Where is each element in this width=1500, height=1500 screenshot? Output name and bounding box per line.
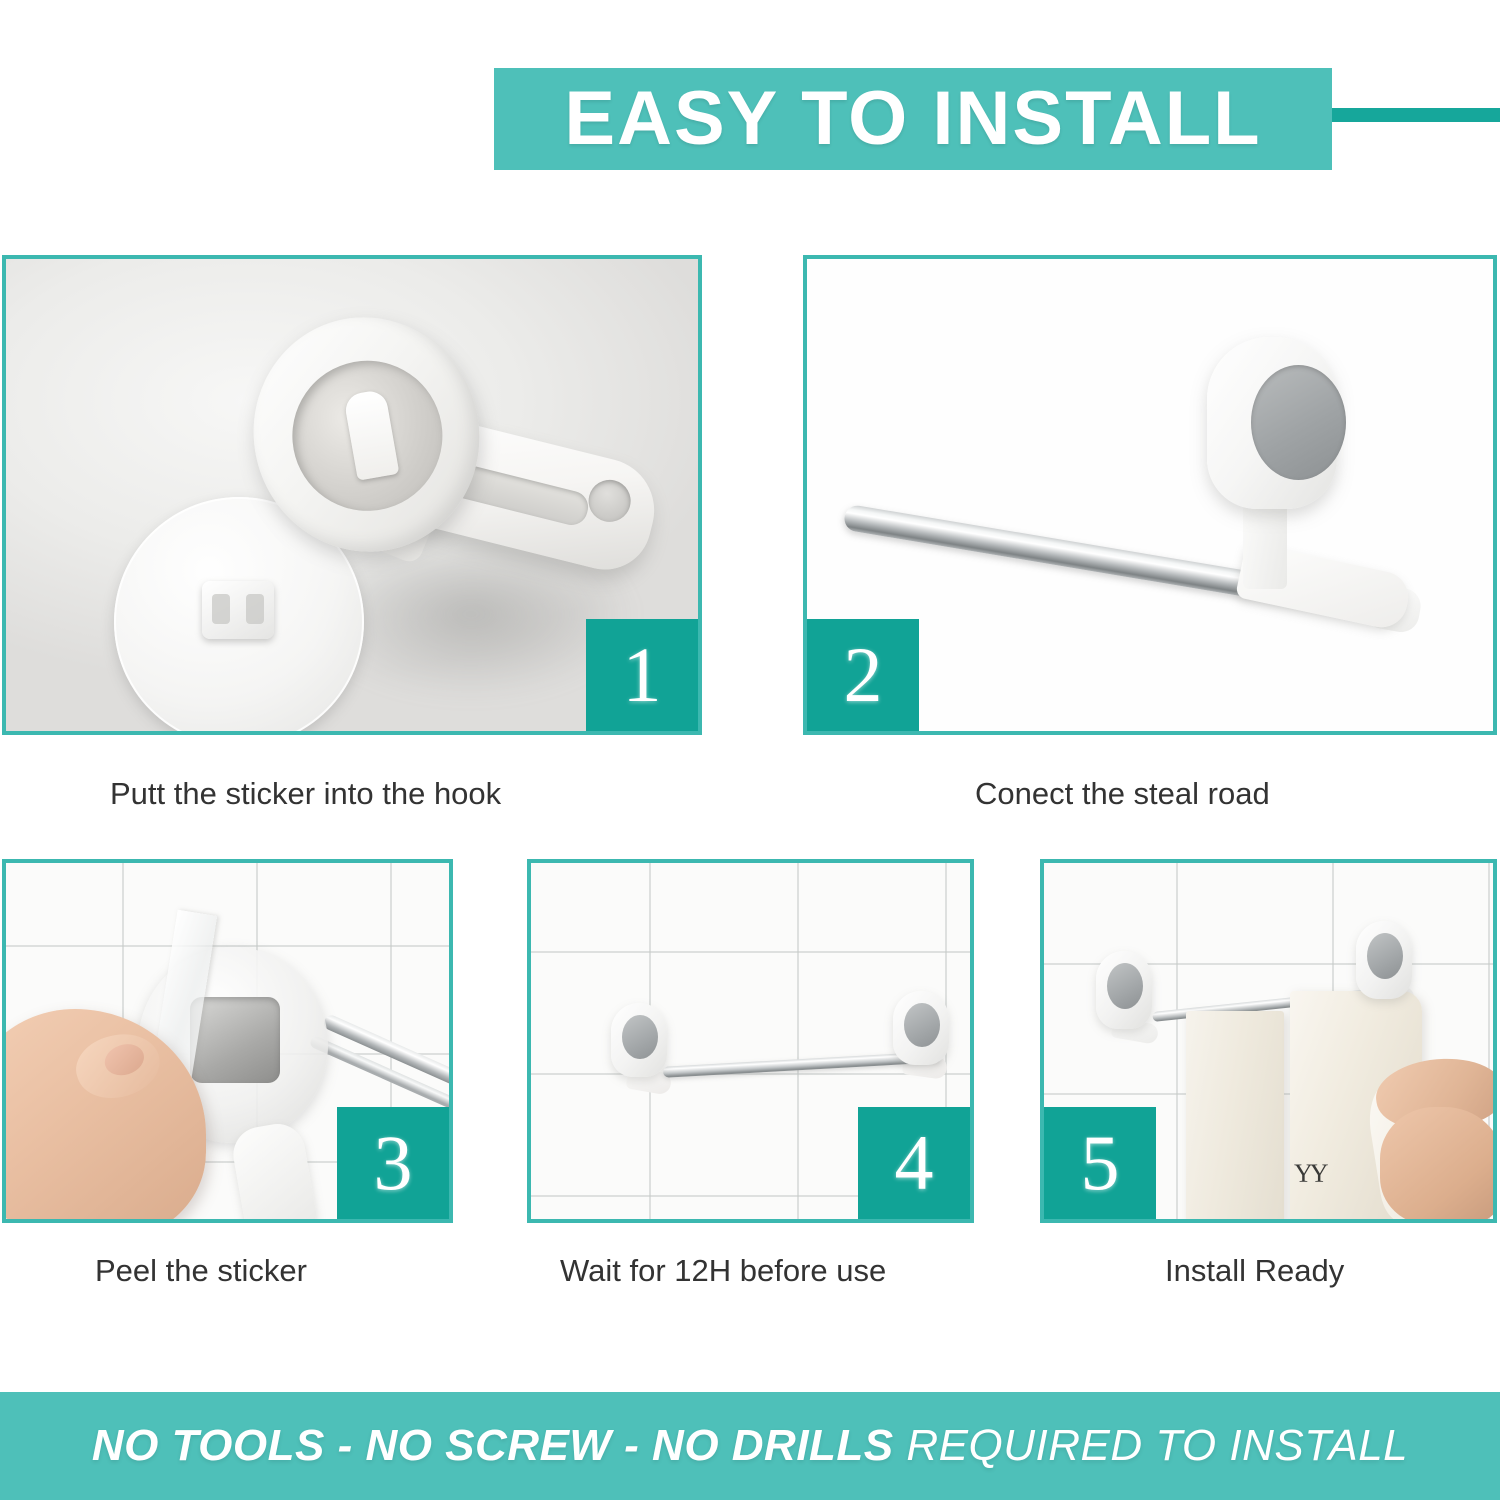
hook-head-recess — [275, 343, 461, 529]
step-caption-4: Wait for 12H before use — [560, 1252, 886, 1289]
page-title: EASY TO INSTALL — [564, 81, 1261, 157]
step-number-5: 5 — [1081, 1124, 1120, 1202]
suction-mount-left — [1096, 951, 1152, 1029]
step-number-2: 2 — [844, 636, 883, 714]
step-caption-2: Conect the steal road — [975, 775, 1270, 812]
suction-mount-right — [893, 991, 949, 1065]
step-number-3: 3 — [374, 1124, 413, 1202]
step-badge-3: 3 — [337, 1107, 449, 1219]
hook-arm-hole — [584, 475, 635, 526]
suction-cup-holder — [1207, 337, 1337, 509]
suction-disc-right — [1367, 933, 1403, 979]
header: EASY TO INSTALL — [0, 0, 1500, 240]
step-caption-1: Putt the sticker into the hook — [110, 775, 501, 812]
holder-stem — [1243, 497, 1287, 589]
step-caption-3: Peel the sticker — [95, 1252, 307, 1289]
thumb — [68, 1024, 167, 1109]
towel-embroidery-mark: ΥΥ — [1294, 1159, 1326, 1189]
step-badge-4: 4 — [858, 1107, 970, 1219]
hook-head-slot — [343, 389, 399, 481]
suction-disc-core — [190, 997, 280, 1083]
step-panel-2: 2 — [803, 255, 1497, 735]
step-caption-5: Install Ready — [1165, 1252, 1344, 1289]
header-title-block: EASY TO INSTALL — [494, 68, 1332, 170]
footer-text: NO TOOLS - NO SCREW - NO DRILLS REQUIRED… — [92, 1424, 1408, 1468]
thumbnail — [101, 1039, 148, 1080]
step-panel-3: 3 — [2, 859, 453, 1223]
footer-light-text: REQUIRED TO INSTALL — [894, 1421, 1408, 1470]
step-badge-2: 2 — [807, 619, 919, 731]
suction-gray-disc — [1251, 365, 1346, 480]
suction-disc-left — [1107, 963, 1143, 1009]
footer-strong-text: NO TOOLS - NO SCREW - NO DRILLS — [92, 1421, 894, 1470]
suction-mount-right — [1356, 921, 1412, 999]
step-number-1: 1 — [623, 636, 662, 714]
footer-banner: NO TOOLS - NO SCREW - NO DRILLS REQUIRED… — [0, 1392, 1500, 1500]
towel-left — [1186, 1011, 1284, 1219]
step-badge-5: 5 — [1044, 1107, 1156, 1219]
step-panel-5: ΥΥ 5 — [1040, 859, 1497, 1223]
step-panel-4: 4 — [527, 859, 974, 1223]
step-badge-1: 1 — [586, 619, 698, 731]
step-number-4: 4 — [895, 1124, 934, 1202]
sticker-clip — [202, 581, 274, 639]
suction-disc-right — [904, 1003, 940, 1047]
step-panel-1: 1 — [2, 255, 702, 735]
hand-lower — [1380, 1107, 1493, 1219]
suction-mount-left — [611, 1003, 667, 1077]
suction-disc-left — [622, 1015, 658, 1059]
